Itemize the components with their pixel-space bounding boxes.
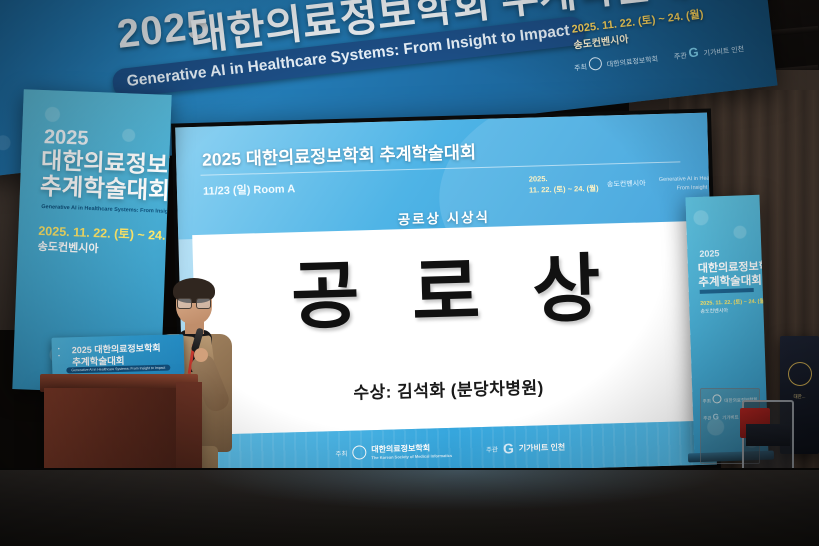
slide-body: 공 로 상 수상: 김석화 (분당차병원) [192,221,701,435]
stage-chair [742,400,794,474]
slide-host-name-ko: 대한의료정보학회 [371,444,430,455]
society-seal-icon [588,56,602,70]
gigabit-g-icon: G [688,44,700,60]
projection-screen: 2025 대한의료정보학회 추계학술대회 11/23 (일) Room A 20… [171,109,721,484]
slide-header: 2025 대한의료정보학회 추계학술대회 11/23 (일) Room A 20… [175,113,710,240]
stage-floor-glow [200,470,720,510]
slide-room-label: 11/23 (일) Room A [203,180,296,199]
slide-sponsor-name: 기가비트 인천 [519,441,566,453]
sponsor-label: 주관 [674,53,688,61]
slide-venue-label: 송도컨벤시아 [607,178,646,189]
banner-venue-text: 송도컨벤시아 [573,34,629,51]
speaker-hand-right [194,348,208,362]
award-title: 공 로 상 [274,251,617,335]
slide-sponsor-label: 주관 [486,444,498,454]
slide-tagline: Generative AI in Healthcare Systems From… [659,174,710,194]
conference-photo-scene: 2025 대한의료정보학회 추계학술대회 Generative AI in He… [0,0,819,546]
podium-sign: ●● 2025 대한의료정보학회 추계학술대회 Generative AI in… [51,334,184,378]
chair-seat [746,424,790,446]
gigabit-g-icon: G [503,440,514,456]
society-seal-icon [352,445,366,459]
rollup-right-year: 2025 [699,248,719,259]
slide-host-name: 대한의료정보학회 The Korean Society of Medical I… [371,442,452,460]
flag-emblem-icon [788,362,812,386]
glasses-icon [177,298,211,307]
slide-date-line1: 2025. [529,174,548,184]
podium-sign-logos: ●● [58,346,61,360]
rollup-left-venue: 송도컨벤시아 [38,238,99,256]
rollup-left-event: 추계학술대회 [40,174,171,205]
slide-date-line2: 11. 22. (토) ~ 24. (월) [529,184,599,195]
rollup-right-venue: 송도컨벤시아 [700,307,728,315]
award-winner: 수상: 김석화 (분당차병원) [353,373,544,403]
slide-date-block: 2025. 11. 22. (토) ~ 24. (월) [529,172,599,196]
flag-text: 대한... [793,394,805,400]
slide-tagline-line1: Generative AI in Healthcare Systems [659,175,710,184]
slide-footer-host: 주최 대한의료정보학회 The Korean Society of Medica… [335,442,452,461]
slide-header-title: 2025 대한의료정보학회 추계학술대회 [202,139,477,172]
presentation-slide: 2025 대한의료정보학회 추계학술대회 11/23 (일) Room A 20… [175,113,717,480]
slide-tagline-line2: From Insight to Impact [677,184,711,192]
slide-host-label: 주최 [335,448,347,458]
slide-footer-sponsor: 주관 G 기가비트 인천 [486,439,566,457]
host-label: 주최 [574,64,588,72]
